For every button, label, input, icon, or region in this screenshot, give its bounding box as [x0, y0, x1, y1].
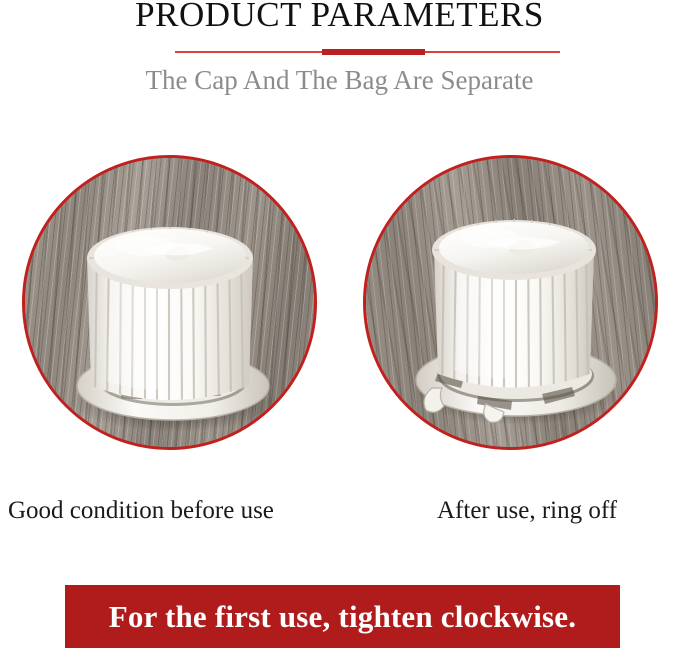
- instruction-banner-text: For the first use, tighten clockwise.: [109, 600, 576, 634]
- caption-before-use: Good condition before use: [8, 496, 274, 526]
- instruction-banner: For the first use, tighten clockwise.: [65, 585, 620, 648]
- page-title: PRODUCT PARAMETERS: [0, 0, 679, 34]
- header-divider: [0, 48, 679, 56]
- header: PRODUCT PARAMETERS: [0, 0, 679, 34]
- photo-after-use: [363, 155, 658, 450]
- caption-after-use: After use, ring off: [437, 496, 617, 526]
- cap-intact-ring-illustration: [25, 158, 314, 447]
- cap-broken-ring-illustration: [366, 158, 655, 447]
- photo-before-use: [22, 155, 317, 450]
- divider-thick-accent: [322, 49, 425, 55]
- page-subtitle: The Cap And The Bag Are Separate: [0, 64, 679, 96]
